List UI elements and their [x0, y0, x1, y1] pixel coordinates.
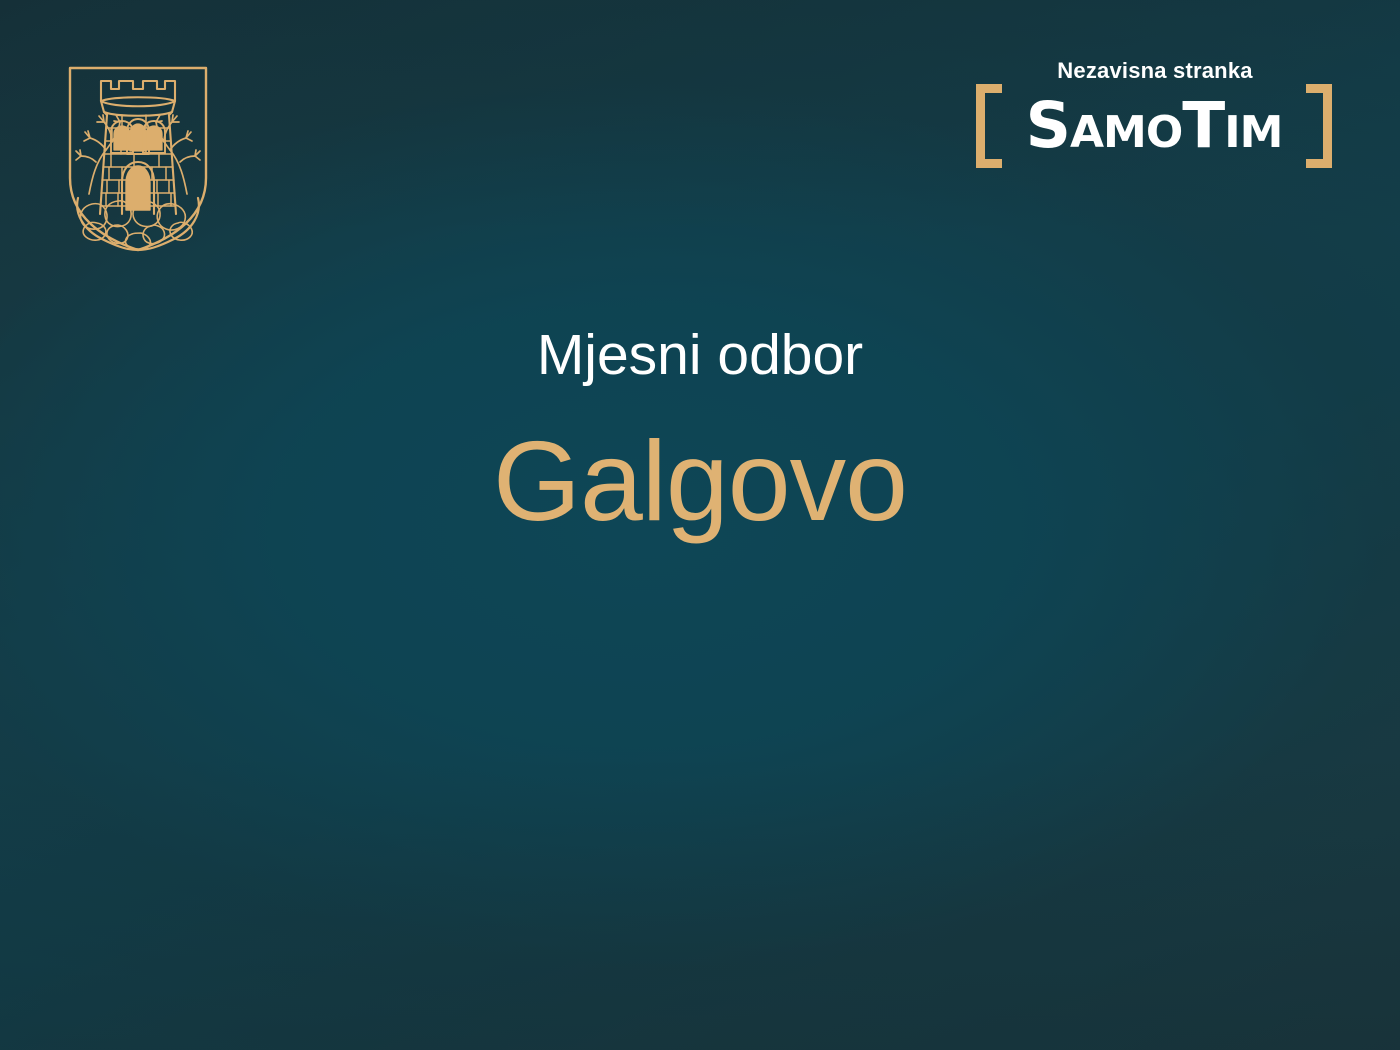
title-block: Mjesni odbor Galgovo: [0, 318, 1400, 548]
slide-headline: Galgovo: [0, 414, 1400, 548]
logo-tagline: Nezavisna stranka: [976, 58, 1334, 84]
logo-wordmark-group: SamoTim: [976, 84, 1332, 168]
right-bracket-icon: [1306, 84, 1332, 168]
coat-of-arms-crest-icon: [62, 58, 214, 256]
samotim-logo: Nezavisna stranka SamoTim: [976, 58, 1338, 170]
left-bracket-icon: [976, 84, 1002, 168]
presentation-slide: Nezavisna stranka SamoTim Mjesni odbor G…: [0, 0, 1400, 1050]
logo-wordmark: SamoTim: [1002, 85, 1306, 167]
slide-kicker: Mjesni odbor: [0, 318, 1400, 392]
